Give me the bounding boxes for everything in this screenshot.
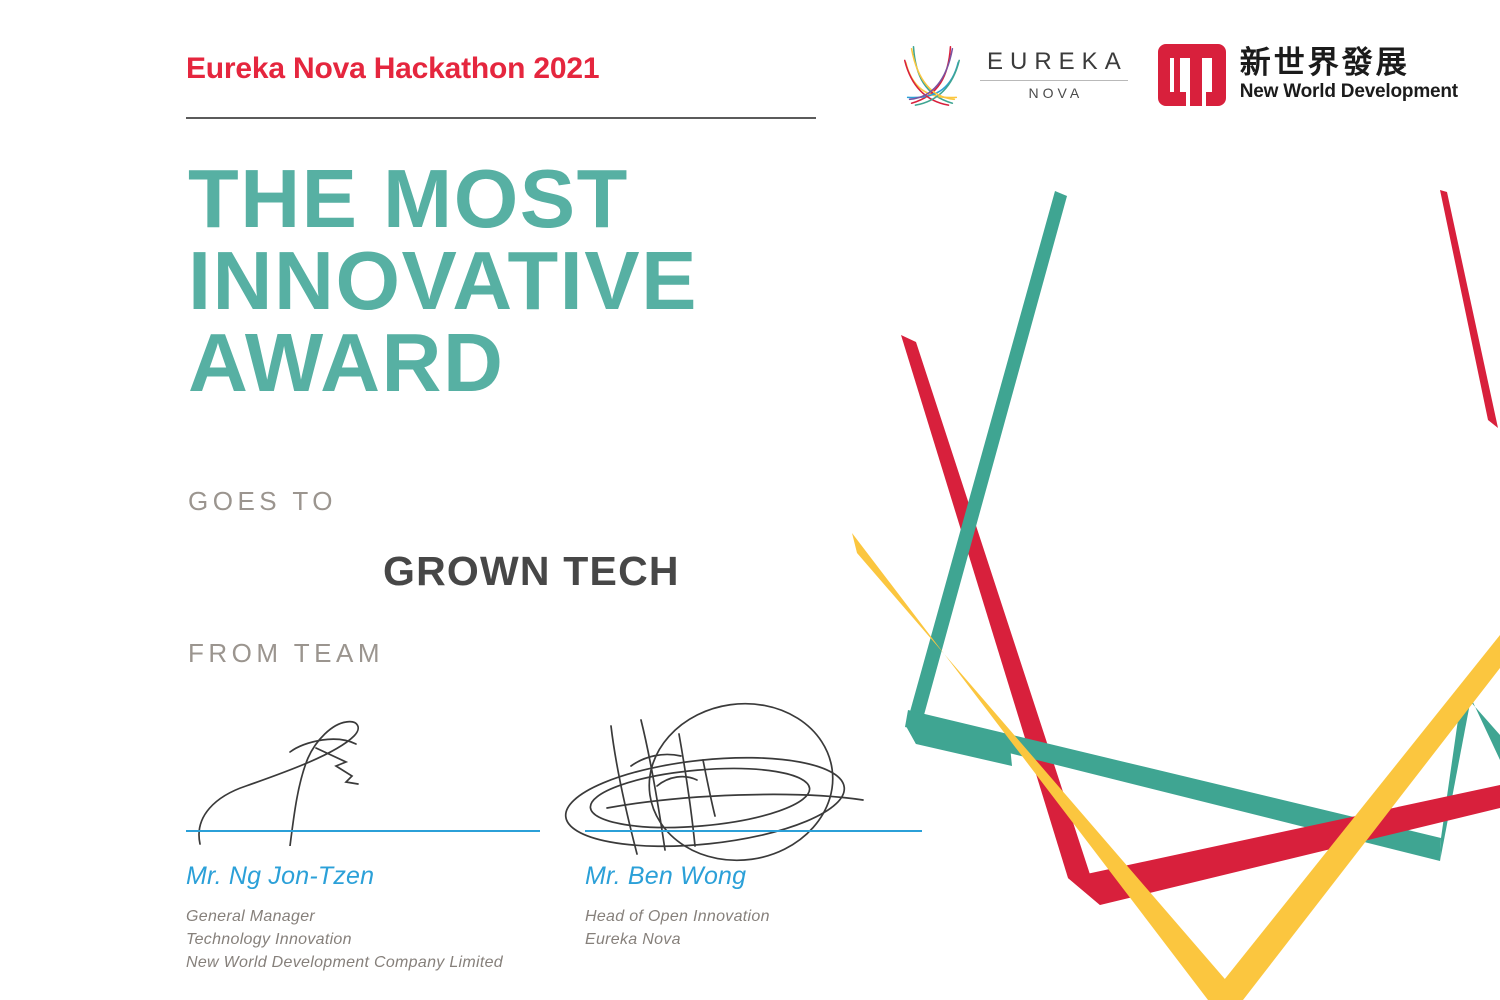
ribbon-yellow-right (1208, 635, 1500, 1000)
eureka-nova-ribbon-mark (892, 39, 970, 111)
signatory-name: Mr. Ben Wong (585, 862, 746, 891)
signature-ben-wong (545, 690, 945, 870)
event-title: Eureka Nova Hackathon 2021 (186, 52, 599, 86)
award-heading: THE MOST INNOVATIVE AWARD (188, 158, 698, 404)
eureka-wordmark-text: EUREKA (980, 49, 1128, 75)
award-certificate: Eureka Nova Hackathon 2021 EUREKA (0, 0, 1500, 1000)
ribbon-teal-sweep (905, 710, 1441, 861)
ribbon-teal-right (1440, 692, 1471, 861)
goes-to-label: GOES TO (188, 486, 337, 517)
logo-lockup: EUREKA NOVA 新世界發展 New World Development (892, 36, 1458, 114)
eureka-nova-logo: EUREKA NOVA (892, 36, 1128, 114)
ribbon-red-upper-right (1440, 190, 1498, 428)
eureka-wordmark-block: EUREKA NOVA (980, 49, 1128, 101)
signature-line (186, 830, 540, 832)
from-team-label: FROM TEAM (188, 638, 384, 669)
ribbon-red-left (901, 335, 1100, 905)
title-divider (186, 117, 816, 119)
new-world-development-logo: 新世界發展 New World Development (1156, 36, 1458, 114)
ribbon-teal-main (906, 191, 1067, 744)
ribbon-yellow-left (852, 533, 1243, 1000)
nwd-chinese-name: 新世界發展 (1240, 47, 1458, 80)
recipient-name: GROWN TECH (383, 548, 680, 595)
ribbon-teal-bottom-left (906, 726, 1012, 766)
signatory-titles: General Manager Technology Innovation Ne… (186, 905, 503, 975)
signature-ng-jon-tzen (186, 696, 486, 846)
signatory-name: Mr. Ng Jon-Tzen (186, 862, 374, 891)
nwd-english-name: New World Development (1240, 81, 1458, 103)
eureka-wordmark-divider (980, 80, 1128, 81)
ribbon-teal-right-tip (1462, 692, 1500, 760)
new-world-development-text: 新世界發展 New World Development (1240, 47, 1458, 102)
signatory-titles: Head of Open Innovation Eureka Nova (585, 905, 770, 951)
signature-line (585, 830, 922, 832)
eureka-subword-text: NOVA (980, 85, 1128, 101)
ribbon-red-sweep (1068, 785, 1500, 905)
new-world-development-mark (1156, 42, 1228, 108)
